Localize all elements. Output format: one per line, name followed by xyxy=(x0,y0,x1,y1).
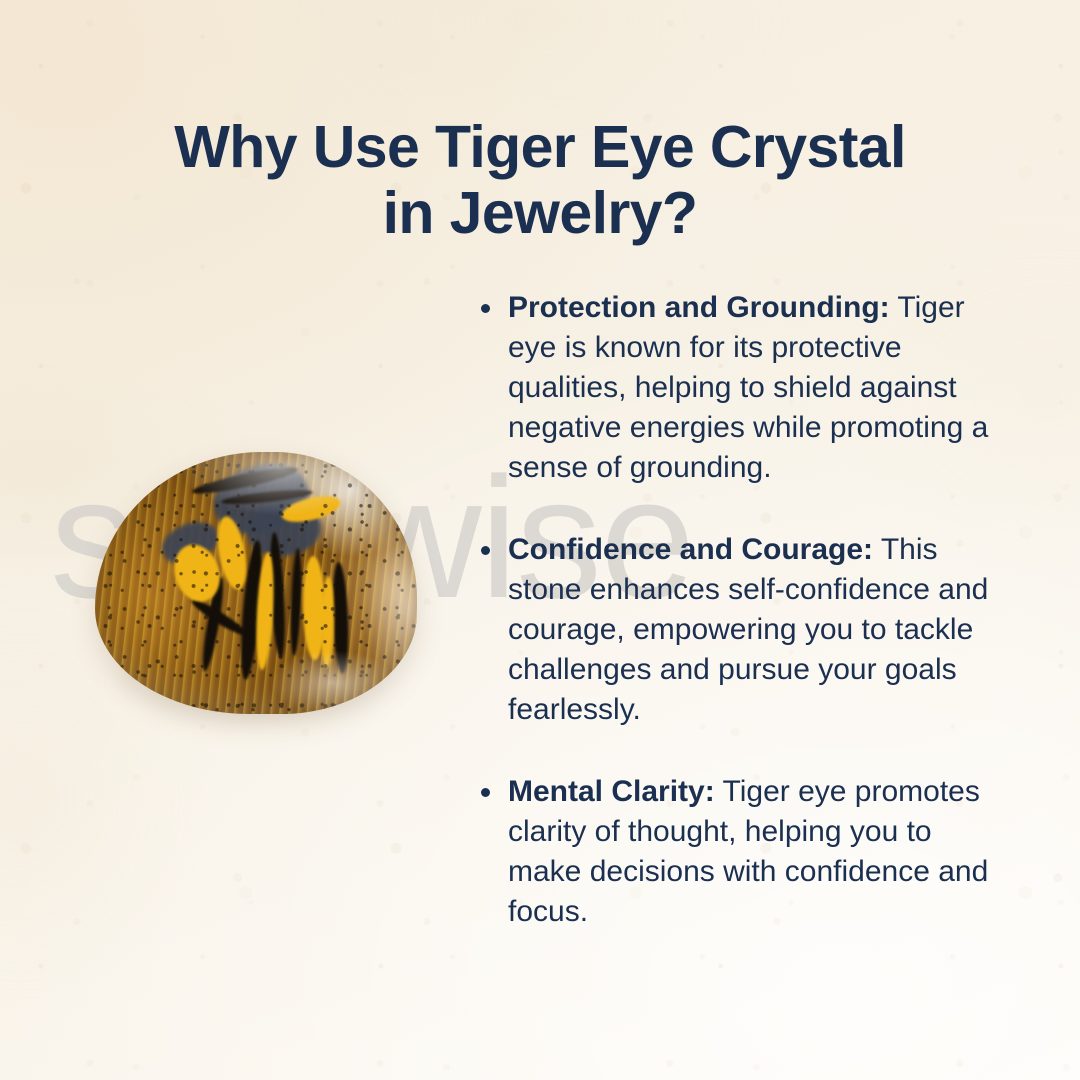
page-title-line-1: Why Use Tiger Eye Crystal xyxy=(0,114,1080,180)
page-title: Why Use Tiger Eye Crystal in Jewelry? xyxy=(0,114,1080,246)
bullet-dot-icon xyxy=(481,304,490,313)
page-title-line-2: in Jewelry? xyxy=(0,180,1080,246)
bullet-lead-label: Confidence and Courage: xyxy=(508,533,873,566)
list-item: Mental Clarity: Tiger eye promotes clari… xyxy=(478,772,998,932)
bullet-lead-label: Mental Clarity: xyxy=(508,775,715,808)
bullet-dot-icon xyxy=(481,788,490,797)
stone-mineral-specks xyxy=(95,452,417,714)
bullet-dot-icon xyxy=(481,546,490,555)
list-item: Protection and Grounding: Tiger eye is k… xyxy=(478,288,998,488)
benefits-list: Protection and Grounding: Tiger eye is k… xyxy=(478,288,998,932)
bullet-lead-label: Protection and Grounding: xyxy=(508,291,890,324)
list-item: Confidence and Courage: This stone enhan… xyxy=(478,530,998,730)
poster-canvas: soulwise Why Use Tiger Eye Crystal in Je… xyxy=(0,0,1080,1080)
stone-body xyxy=(95,452,417,714)
tiger-eye-stone-image xyxy=(78,440,438,740)
